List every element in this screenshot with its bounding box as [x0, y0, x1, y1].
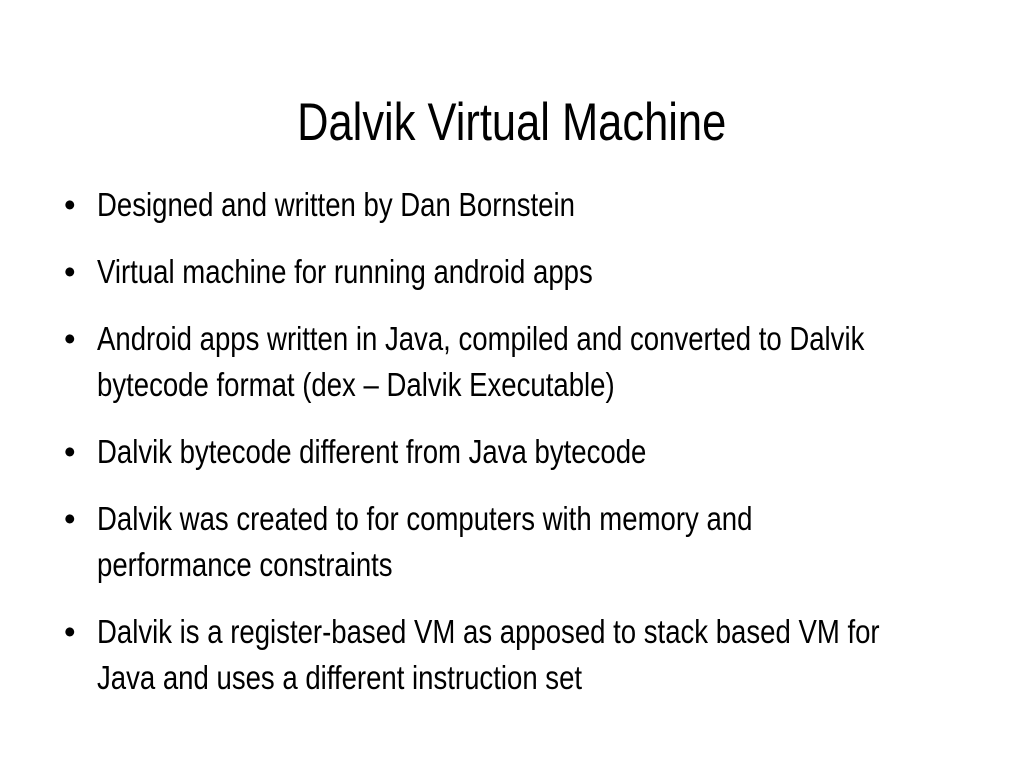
list-item: • Dalvik was created to for computers wi…	[58, 496, 998, 588]
bullet-point-icon: •	[64, 316, 84, 362]
list-item: • Designed and written by Dan Bornstein	[58, 182, 998, 228]
bullet-point-icon: •	[64, 429, 84, 475]
page-title: Dalvik Virtual Machine	[0, 92, 1024, 154]
list-item-text: Designed and written by Dan Bornstein	[97, 182, 998, 228]
list-item: • Dalvik bytecode different from Java by…	[58, 429, 998, 475]
list-item-text: Dalvik was created to for computers with…	[97, 496, 998, 588]
list-item-text: Dalvik is a register-based VM as apposed…	[97, 609, 998, 701]
bullet-point-icon: •	[64, 182, 84, 228]
bullet-point-icon: •	[64, 249, 84, 295]
presentation-slide: Dalvik Virtual Machine • Designed and wr…	[0, 0, 1024, 768]
bullet-point-icon: •	[64, 496, 84, 542]
list-item-text: Virtual machine for running android apps	[97, 249, 998, 295]
list-item-text: Android apps written in Java, compiled a…	[97, 316, 998, 408]
bullet-list: • Designed and written by Dan Bornstein …	[58, 182, 998, 701]
list-item: • Dalvik is a register-based VM as appos…	[58, 609, 998, 701]
bullet-point-icon: •	[64, 609, 84, 655]
list-item: • Android apps written in Java, compiled…	[58, 316, 998, 408]
list-item-text: Dalvik bytecode different from Java byte…	[97, 429, 998, 475]
page-title-text: Dalvik Virtual Machine	[297, 92, 726, 154]
list-item: • Virtual machine for running android ap…	[58, 249, 998, 295]
